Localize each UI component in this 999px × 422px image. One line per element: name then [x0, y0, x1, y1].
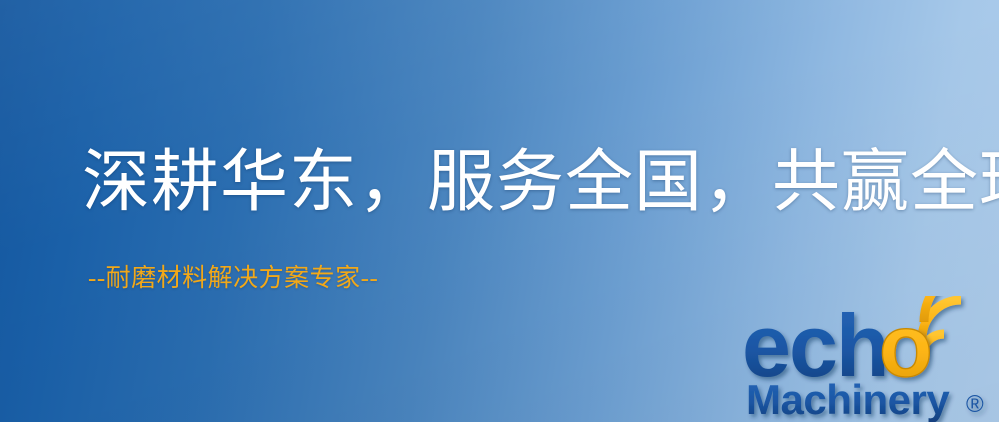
hero-banner: 深耕华东，服务全国，共赢全球 --耐磨材料解决方案专家-- — [0, 0, 999, 422]
echo-machinery-logo[interactable]: ech o Machinery ® — [742, 296, 999, 422]
page-title: 深耕华东，服务全国，共赢全球 — [82, 148, 999, 216]
page-subtitle: --耐磨材料解决方案专家-- — [88, 266, 378, 291]
registered-trademark-icon: ® — [966, 391, 984, 418]
logo-tagline: Machinery — [746, 376, 950, 422]
logo-artwork: ech o Machinery ® — [742, 296, 999, 422]
